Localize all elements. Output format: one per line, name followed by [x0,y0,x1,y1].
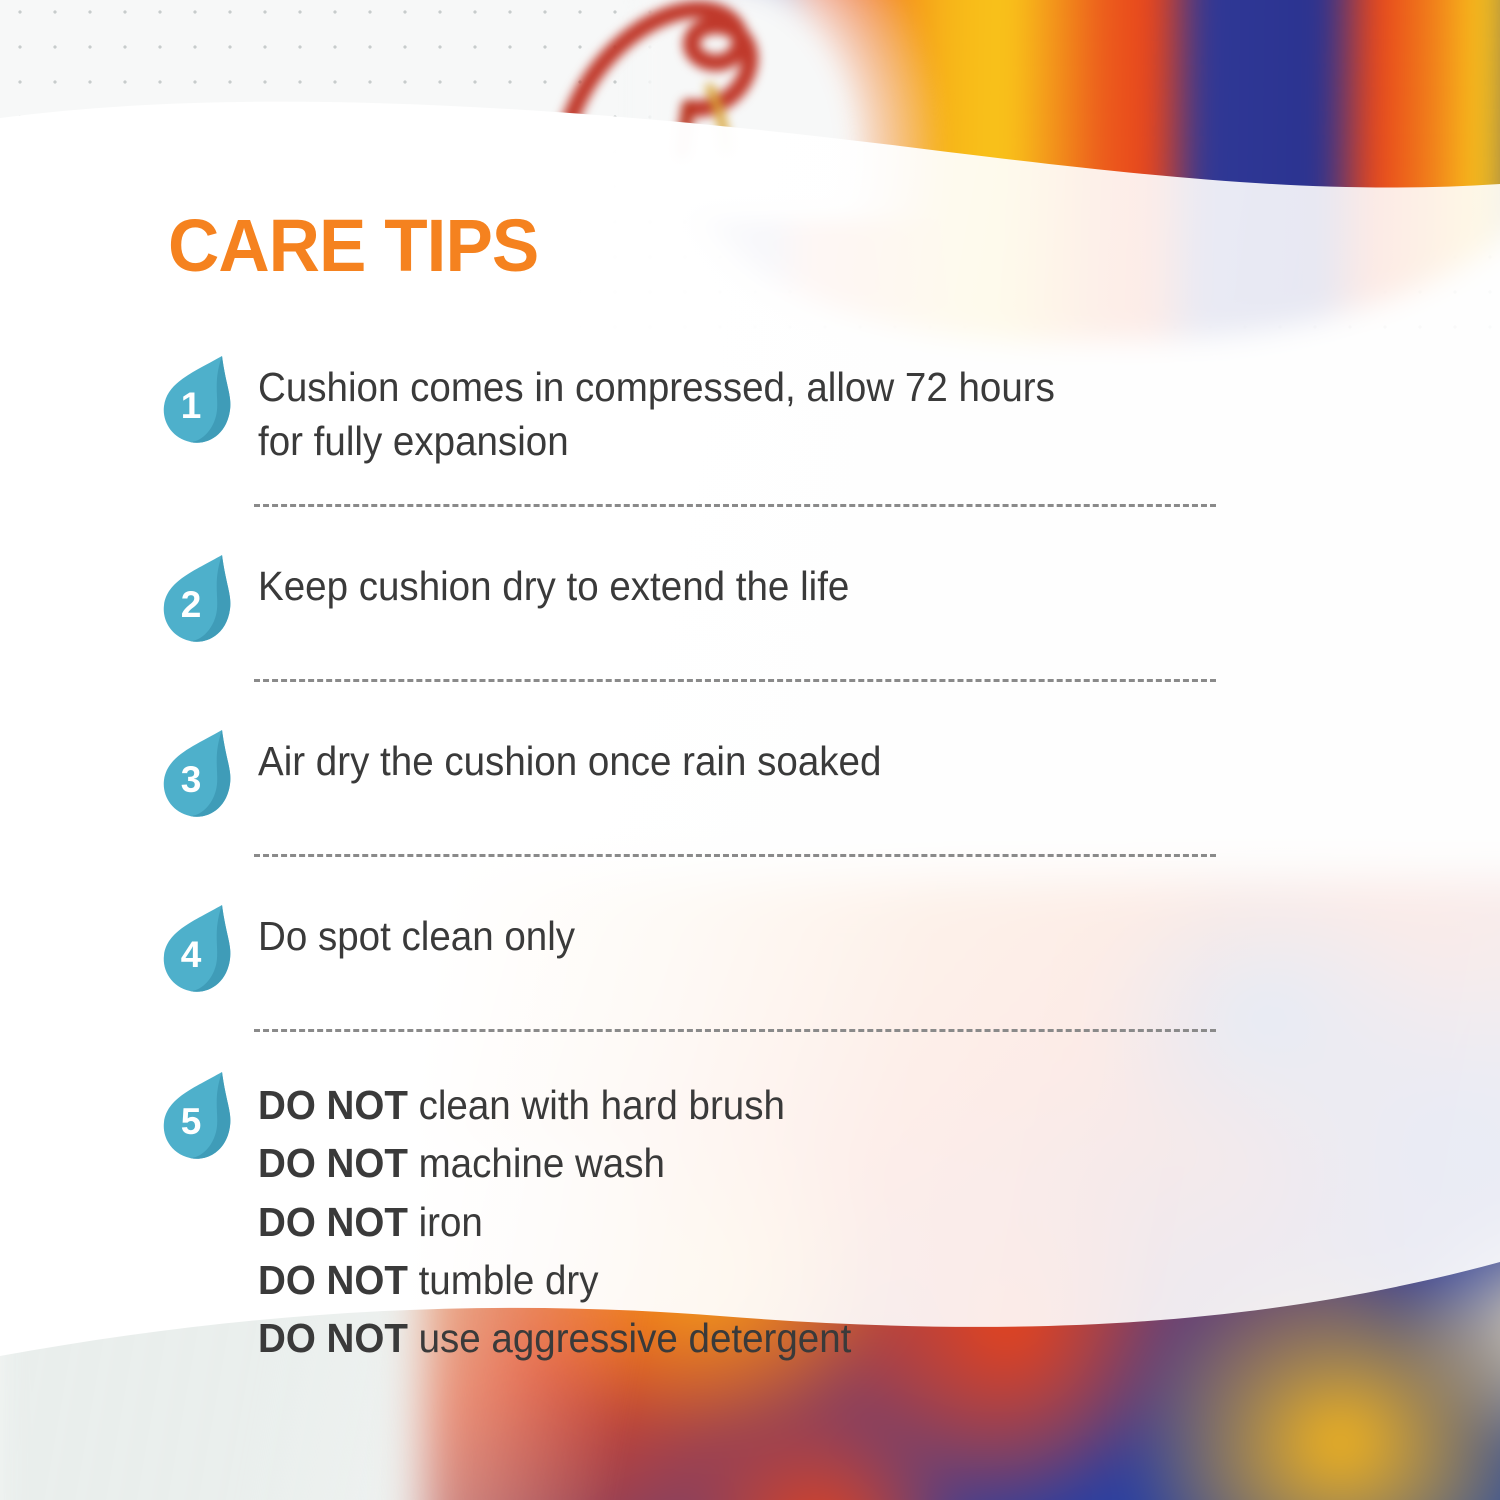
do-not-emphasis: DO NOT [258,1199,408,1245]
divider [254,854,1216,857]
tip-line-rest: use aggressive detergent [408,1315,852,1361]
content-layer: CARE TIPS 1 Cushion comes in compressed,… [0,0,1500,1500]
tip-line: DO NOT clean with hard brush [258,1076,1172,1134]
tip-line: DO NOT use aggressive detergent [258,1309,1172,1367]
page-title: CARE TIPS [168,203,538,288]
list-item-text: Keep cushion dry to extend the life [258,551,1172,613]
list-item: 4 Do spot clean only [160,901,1230,997]
divider [254,1029,1216,1032]
tip-line-rest: machine wash [408,1140,665,1186]
list-item-number: 1 [160,352,222,448]
tip-line: DO NOT machine wash [258,1134,1172,1192]
tip-line: DO NOT iron [258,1193,1172,1251]
list-item-text: Cushion comes in compressed, allow 72 ho… [258,352,1172,468]
divider [254,504,1216,507]
divider [254,679,1216,682]
list-item-text: Air dry the cushion once rain soaked [258,726,1172,788]
list-item-number: 4 [160,901,222,997]
list-item: 2 Keep cushion dry to extend the life [160,551,1230,647]
list-item-text: Do spot clean only [258,901,1172,963]
tip-line: Keep cushion dry to extend the life [258,559,1172,613]
list-item-text: DO NOT clean with hard brush DO NOT mach… [258,1068,1172,1367]
water-drop-icon: 2 [160,551,236,647]
list-item: 1 Cushion comes in compressed, allow 72 … [160,352,1230,468]
list-item-number: 3 [160,726,222,822]
tip-line-rest: iron [408,1199,483,1245]
tip-line: DO NOT tumble dry [258,1251,1172,1309]
do-not-emphasis: DO NOT [258,1257,408,1303]
list-item: 5 DO NOT clean with hard brush DO NOT ma… [160,1068,1230,1367]
water-drop-icon: 4 [160,901,236,997]
tip-line: Air dry the cushion once rain soaked [258,734,1172,788]
do-not-emphasis: DO NOT [258,1315,408,1361]
water-drop-icon: 5 [160,1068,236,1164]
water-drop-icon: 3 [160,726,236,822]
water-drop-icon: 1 [160,352,236,448]
care-tips-infographic: CARE TIPS 1 Cushion comes in compressed,… [0,0,1500,1500]
list-item-number: 2 [160,551,222,647]
tip-line-rest: tumble dry [408,1257,599,1303]
list-item-number: 5 [160,1068,222,1164]
care-tips-list: 1 Cushion comes in compressed, allow 72 … [160,352,1230,1367]
list-item: 3 Air dry the cushion once rain soaked [160,726,1230,822]
tip-line: Cushion comes in compressed, allow 72 ho… [258,360,1172,414]
tip-line: Do spot clean only [258,909,1172,963]
tip-line: for fully expansion [258,414,1172,468]
do-not-emphasis: DO NOT [258,1082,408,1128]
do-not-emphasis: DO NOT [258,1140,408,1186]
tip-line-rest: clean with hard brush [408,1082,785,1128]
